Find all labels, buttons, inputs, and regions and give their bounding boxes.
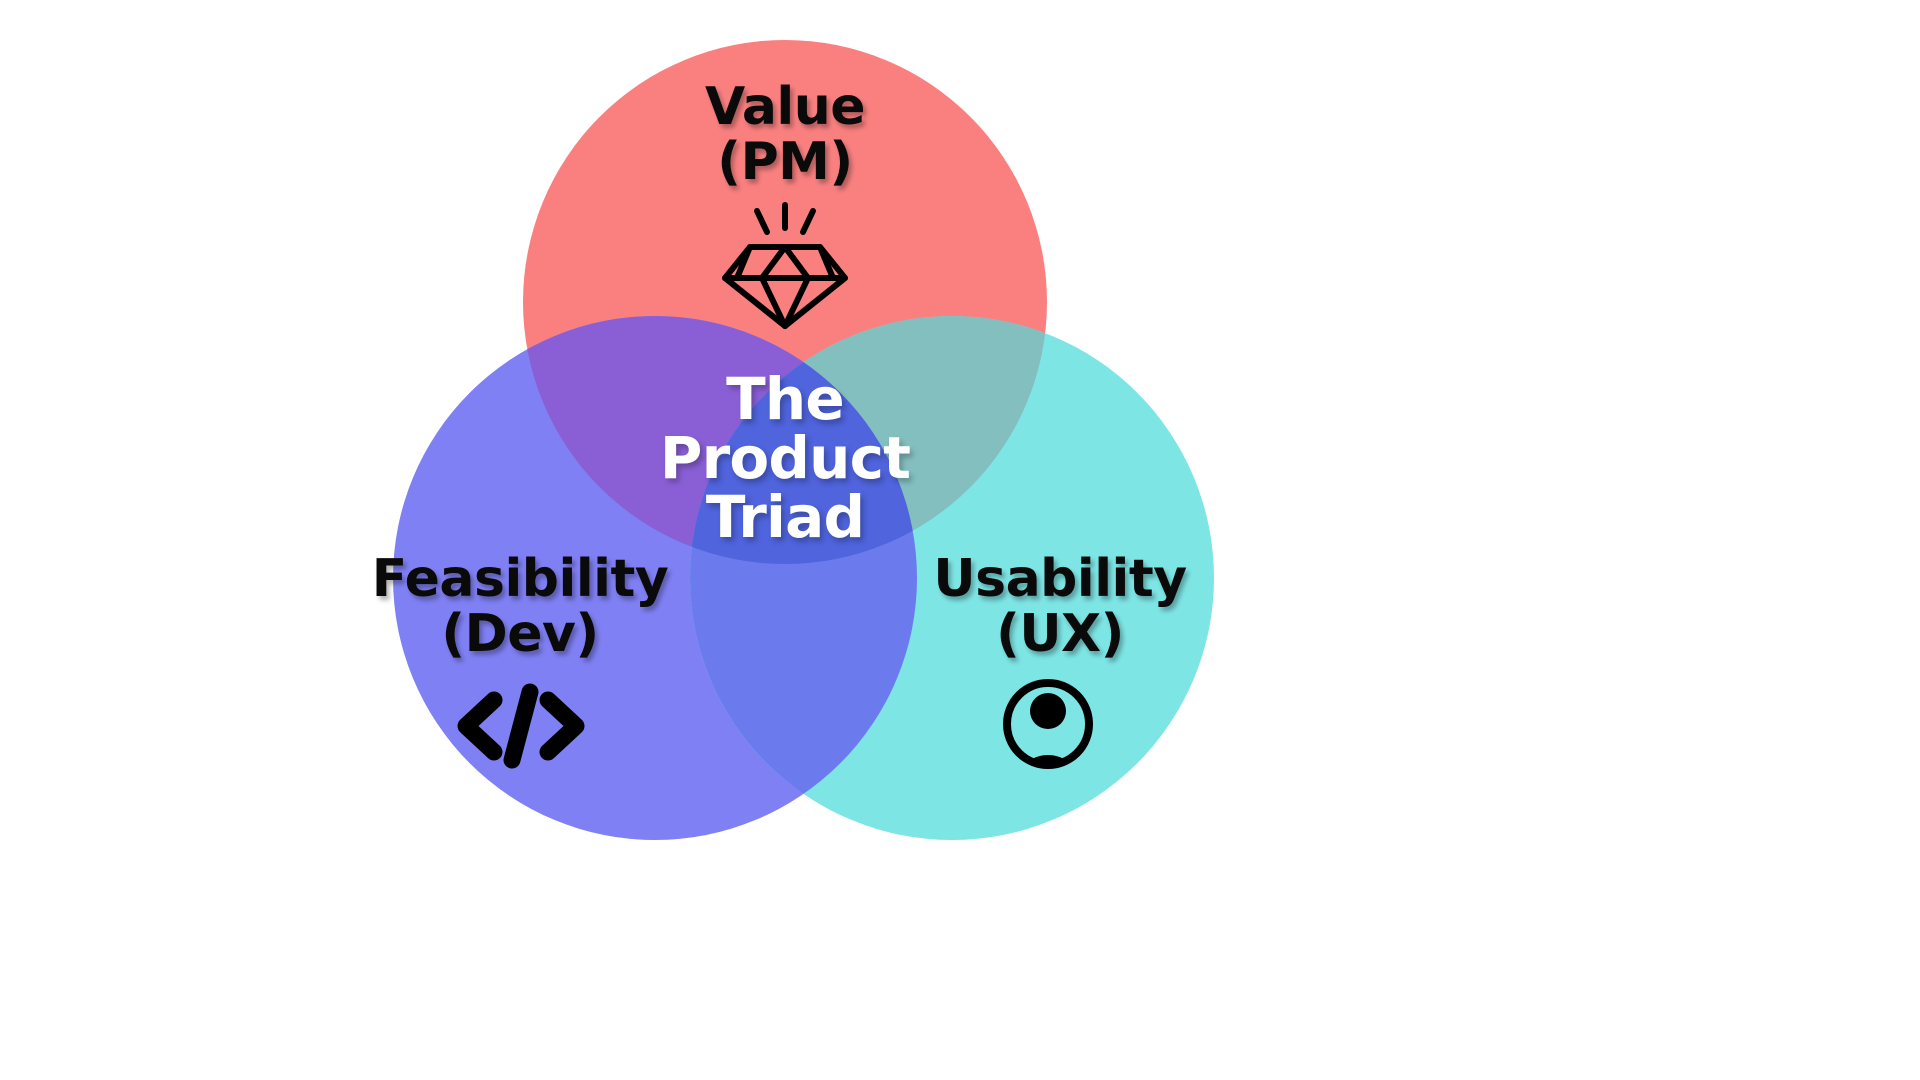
venn-diagram-canvas: Value (PM) Feasibility (Dev) Usability (… bbox=[0, 0, 1920, 1080]
venn-circles-graphic bbox=[0, 0, 1920, 1080]
